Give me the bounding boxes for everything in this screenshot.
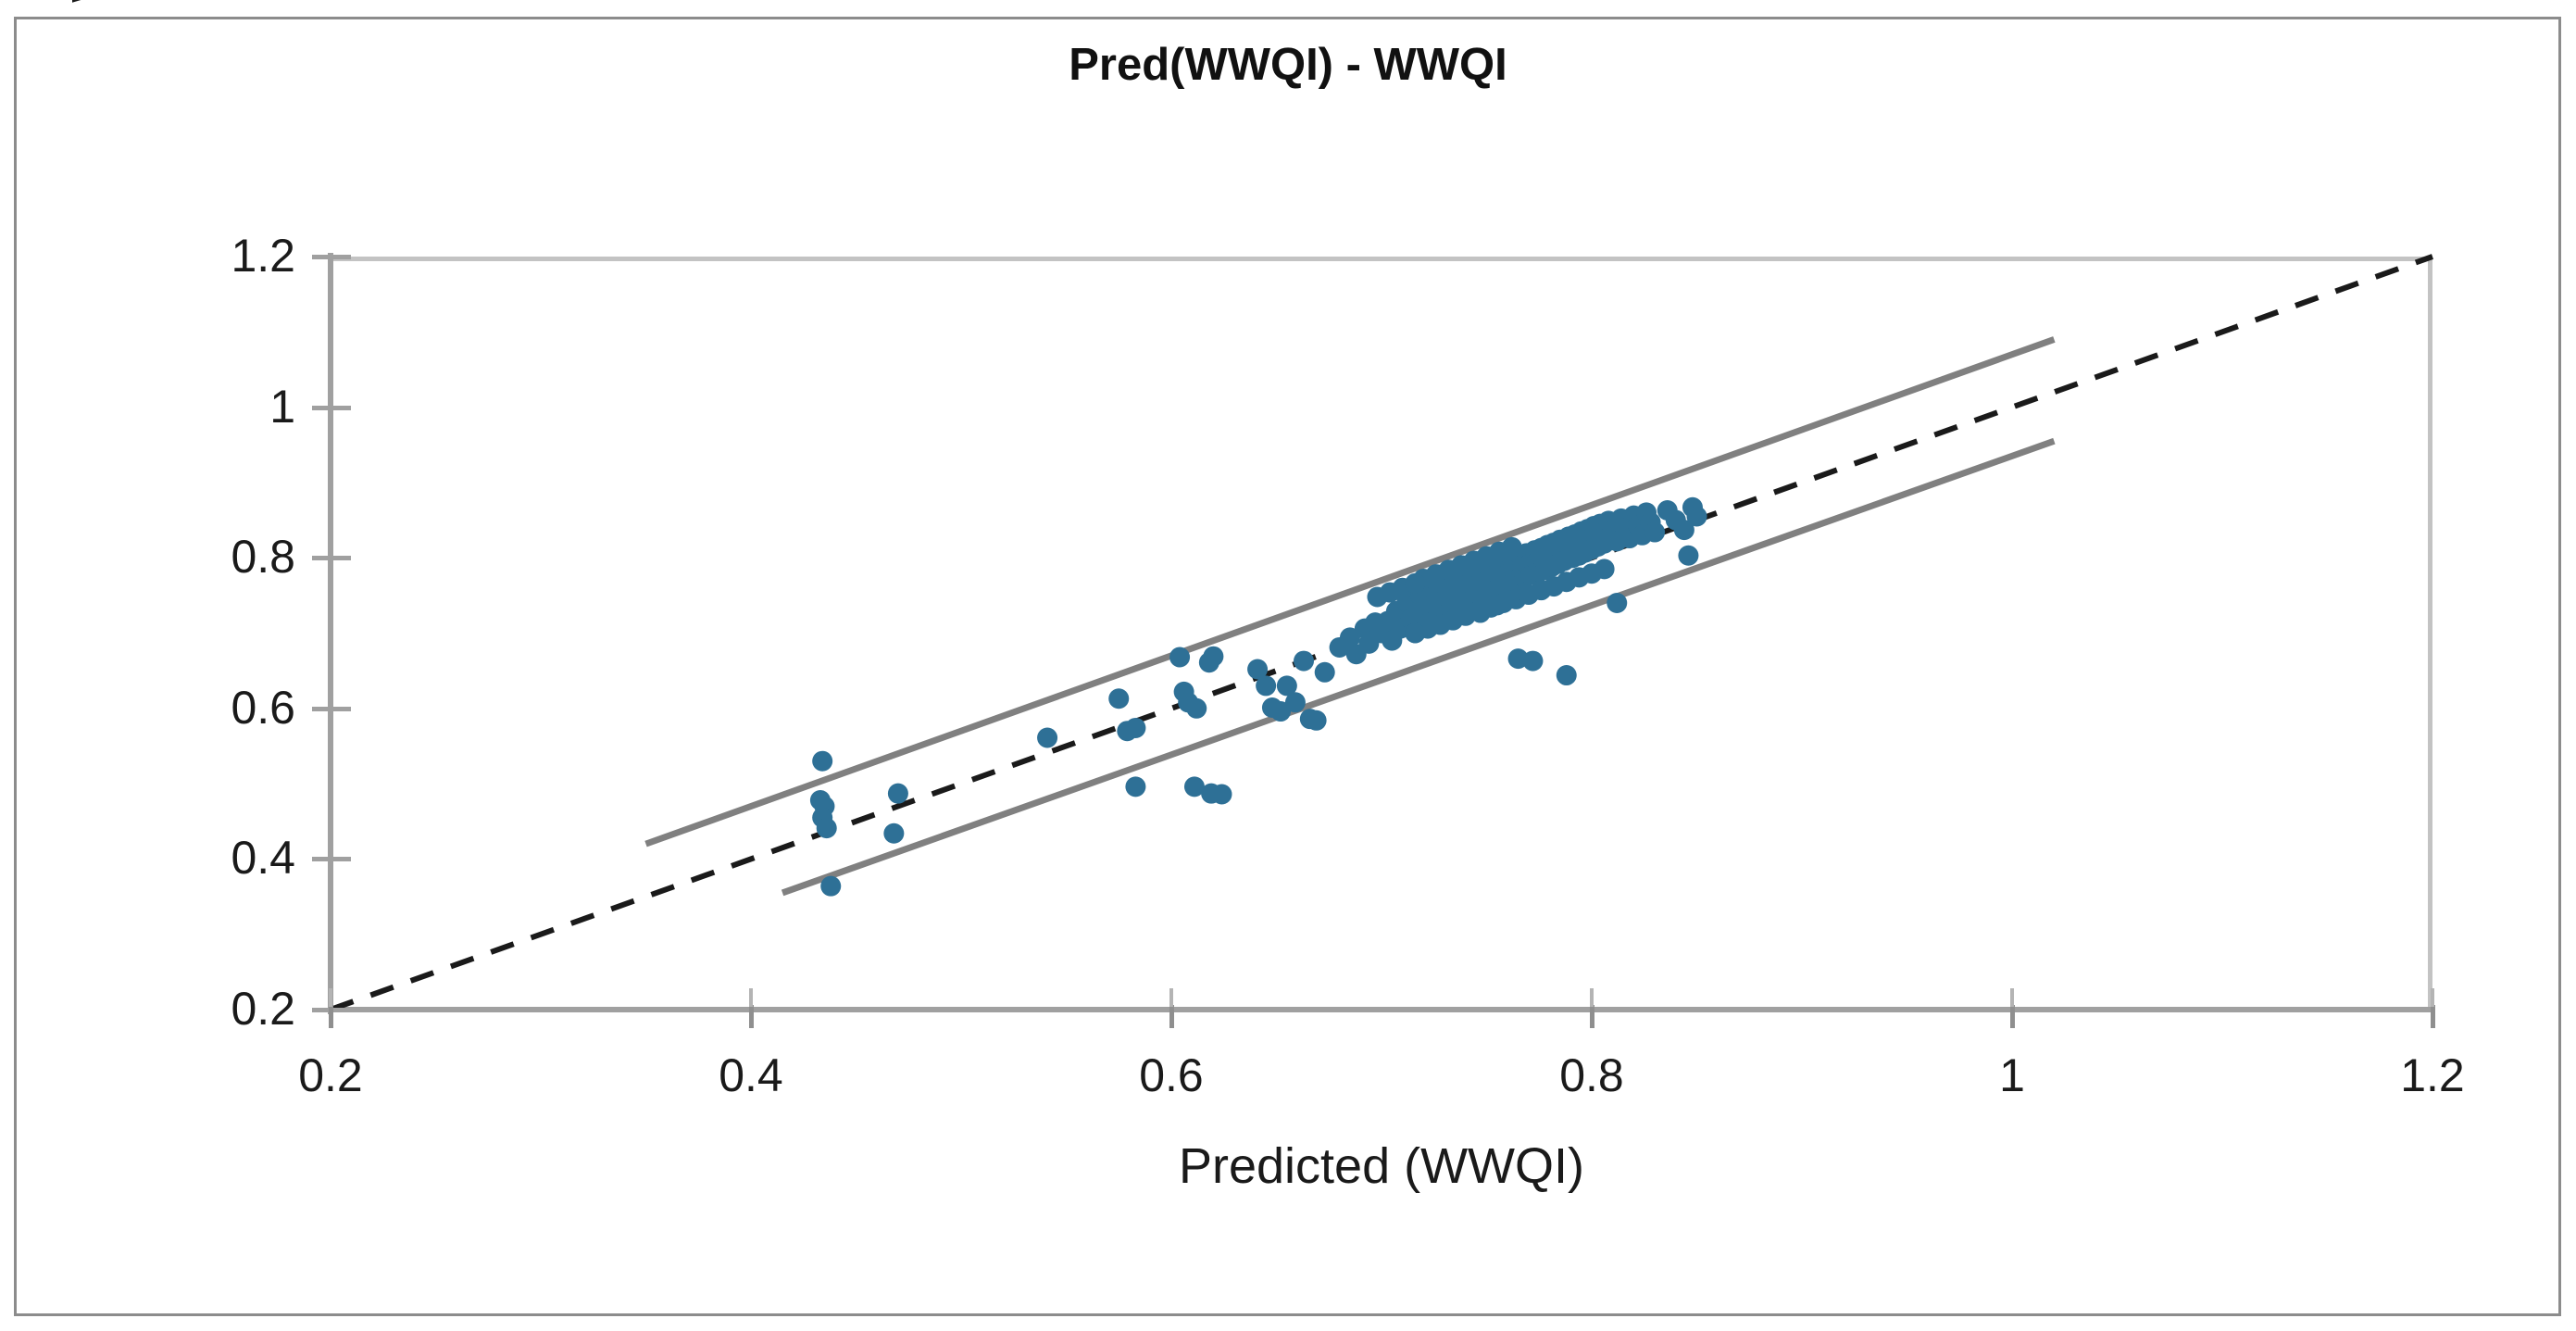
x-axis-tick xyxy=(1590,1005,1594,1028)
x-axis-inner-tick xyxy=(1590,988,1594,1007)
scatter-point xyxy=(1405,573,1425,594)
scatter-point xyxy=(1169,647,1190,668)
scatter-point xyxy=(812,751,832,772)
x-axis-inner-tick xyxy=(2010,988,2014,1007)
upper-band-line xyxy=(646,339,2055,844)
scatter-point xyxy=(817,818,837,838)
x-axis-tick xyxy=(2431,1005,2435,1028)
x-axis-tick-label: 0.4 xyxy=(649,1048,853,1102)
scatter-point xyxy=(1108,688,1129,709)
lower-band-line xyxy=(782,441,2054,893)
scatter-point xyxy=(1186,698,1207,719)
scatter-point xyxy=(1644,522,1665,543)
x-axis-tick-label: 0.8 xyxy=(1490,1048,1694,1102)
scatter-point xyxy=(1037,728,1057,748)
page-title: Pred(WWQI) - WWQI xyxy=(0,39,2576,91)
x-axis-tick xyxy=(749,1005,754,1028)
y-axis-tick-label: 1.2 xyxy=(110,229,295,283)
x-axis-tick xyxy=(329,1005,333,1028)
y-axis-tick-label: 0.6 xyxy=(110,681,295,735)
x-axis-inner-tick xyxy=(749,988,753,1007)
scatter-point xyxy=(1594,559,1615,579)
scatter-point xyxy=(1522,651,1543,672)
plot-canvas xyxy=(331,257,2432,1010)
y-axis-tick-label: 0.4 xyxy=(110,831,295,885)
chart-figure: Pred(WWQI) - WWQI WWQI Predicted (WWQI) … xyxy=(0,0,2576,1331)
scatter-point xyxy=(1557,665,1577,685)
x-axis-tick-label: 0.2 xyxy=(229,1048,432,1102)
scatter-point xyxy=(1125,776,1145,797)
x-axis-tick-label: 0.6 xyxy=(1069,1048,1273,1102)
x-axis-inner-tick xyxy=(2431,988,2434,1007)
y-axis-tick xyxy=(312,707,351,711)
scatter-point xyxy=(1256,675,1276,696)
y-axis-tick-label: 1 xyxy=(110,380,295,433)
scatter-point xyxy=(1315,662,1335,683)
x-axis-title: Predicted (WWQI) xyxy=(331,1137,2432,1195)
scatter-point xyxy=(1607,593,1627,613)
scatter-point xyxy=(1687,506,1707,526)
confidence-band-lines xyxy=(646,339,2055,893)
scatter-point xyxy=(1678,546,1698,566)
scatter-point xyxy=(1367,586,1387,607)
x-axis-tick-label: 1 xyxy=(1910,1048,2114,1102)
scatter-point xyxy=(1307,710,1327,731)
y-axis-tick xyxy=(312,406,351,410)
scatter-point xyxy=(1199,652,1219,672)
scatter-point xyxy=(820,876,841,897)
scatter-point xyxy=(1211,784,1232,804)
x-axis-inner-tick xyxy=(329,988,332,1007)
x-axis-tick xyxy=(1169,1005,1174,1028)
scatter-point xyxy=(1405,623,1425,644)
scatter-point xyxy=(883,823,904,844)
y-axis-tick xyxy=(312,255,351,259)
scatter-point xyxy=(888,784,908,804)
x-axis-tick xyxy=(2010,1005,2015,1028)
y-axis-tick xyxy=(312,857,351,861)
scatter-point xyxy=(1294,651,1314,672)
scatter-point xyxy=(1502,537,1522,558)
y-axis-tick-label: 0.2 xyxy=(110,982,295,1036)
y-axis-tick xyxy=(312,556,351,560)
plot-area xyxy=(331,257,2432,1010)
x-axis-tick-label: 1.2 xyxy=(2331,1048,2534,1102)
scatter-point xyxy=(1285,692,1306,712)
x-axis-inner-tick xyxy=(1169,988,1173,1007)
y-axis-tick-label: 0.8 xyxy=(110,530,295,584)
scatter-point xyxy=(1125,718,1145,738)
